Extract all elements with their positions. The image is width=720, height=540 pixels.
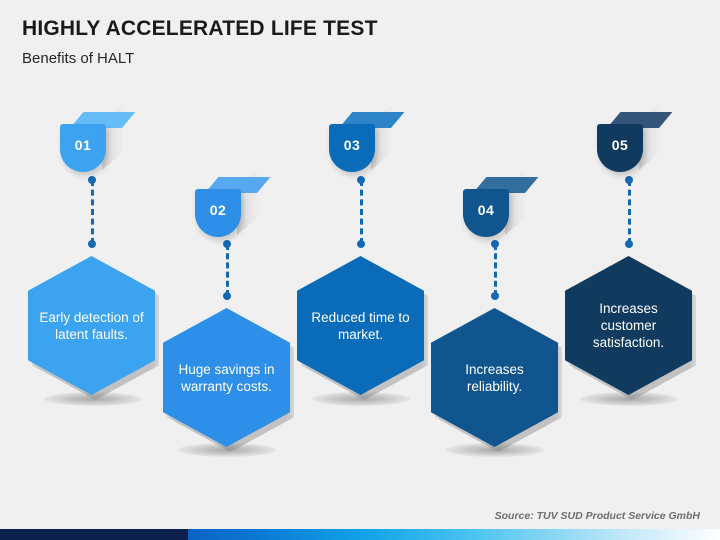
connector-03 — [356, 176, 366, 248]
connector-dashed-line-01 — [91, 180, 94, 244]
connector-dot-top-04 — [491, 240, 499, 248]
badge-front-face-05: 05 — [597, 124, 643, 172]
badge-03[interactable]: 03 — [329, 112, 405, 174]
footer-bar-dark-segment — [0, 529, 188, 540]
hexagon-03[interactable]: Reduced time to market. — [297, 256, 424, 395]
hexagon-label-03: Reduced time to market. — [297, 309, 424, 343]
badge-01[interactable]: 01 — [60, 112, 136, 174]
footer-accent-bar — [0, 529, 720, 540]
connector-01 — [87, 176, 97, 248]
badge-02[interactable]: 02 — [195, 177, 271, 239]
hexagon-02[interactable]: Huge savings in warranty costs. — [163, 308, 290, 447]
footer-bar-gradient-segment — [188, 529, 720, 540]
connector-dashed-line-02 — [226, 244, 229, 296]
badge-05[interactable]: 05 — [597, 112, 673, 174]
connector-04 — [490, 240, 500, 300]
badge-front-face-01: 01 — [60, 124, 106, 172]
connector-dot-bottom-05 — [625, 240, 633, 248]
source-attribution: Source: TUV SUD Product Service GmbH — [495, 510, 700, 522]
page-title: HIGHLY ACCELERATED LIFE TEST — [22, 17, 378, 41]
connector-dashed-line-03 — [360, 180, 363, 244]
badge-number-01: 01 — [75, 138, 92, 152]
hexagon-label-01: Early detection of latent faults. — [28, 309, 155, 343]
page-subtitle: Benefits of HALT — [22, 50, 134, 67]
slide-canvas: HIGHLY ACCELERATED LIFE TEST Benefits of… — [0, 0, 720, 540]
connector-dot-top-01 — [88, 176, 96, 184]
badge-front-face-03: 03 — [329, 124, 375, 172]
connector-dot-top-02 — [223, 240, 231, 248]
badge-front-face-02: 02 — [195, 189, 241, 237]
hexagon-04[interactable]: Increases reliability. — [431, 308, 558, 447]
hexagon-label-02: Huge savings in warranty costs. — [163, 361, 290, 395]
hexagon-01[interactable]: Early detection of latent faults. — [28, 256, 155, 395]
badge-front-face-04: 04 — [463, 189, 509, 237]
connector-dot-bottom-02 — [223, 292, 231, 300]
connector-dashed-line-05 — [628, 180, 631, 244]
connector-dot-bottom-01 — [88, 240, 96, 248]
hexagon-label-05: Increases customer satisfaction. — [565, 300, 692, 351]
hexagon-05[interactable]: Increases customer satisfaction. — [565, 256, 692, 395]
badge-04[interactable]: 04 — [463, 177, 539, 239]
badge-number-05: 05 — [612, 138, 629, 152]
connector-02 — [222, 240, 232, 300]
connector-dot-bottom-03 — [357, 240, 365, 248]
connector-dot-top-03 — [357, 176, 365, 184]
badge-number-03: 03 — [344, 138, 361, 152]
connector-dot-top-05 — [625, 176, 633, 184]
connector-dot-bottom-04 — [491, 292, 499, 300]
badge-number-04: 04 — [478, 203, 495, 217]
connector-dashed-line-04 — [494, 244, 497, 296]
hexagon-label-04: Increases reliability. — [431, 361, 558, 395]
connector-05 — [624, 176, 634, 248]
badge-number-02: 02 — [210, 203, 227, 217]
